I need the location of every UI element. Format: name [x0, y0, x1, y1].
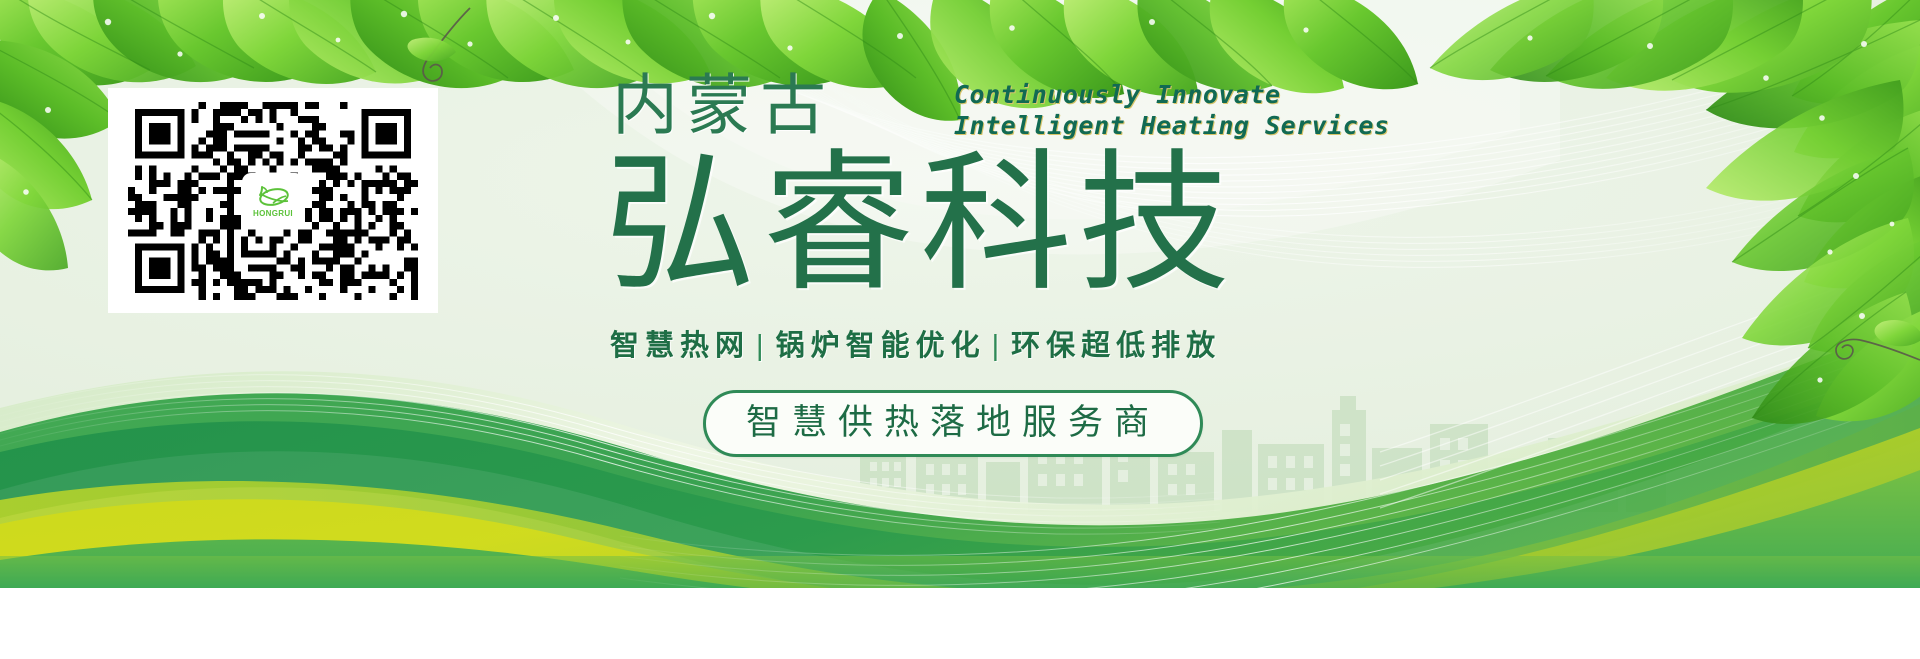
tagline-separator-2: | [986, 330, 1012, 362]
tagline-row: 智慧热网|锅炉智能优化|环保超低排放 [610, 322, 1221, 364]
service-badge: 智慧供热落地服务商 [703, 390, 1203, 457]
hongrui-logo: HONGRUI [244, 175, 302, 227]
vine-tendril-icon [423, 8, 470, 81]
qr-code-card[interactable]: HONGRUI [108, 88, 438, 313]
bottom-white-strip [0, 588, 1920, 659]
province-label: 内蒙古 [612, 72, 834, 138]
tagline-separator-1: | [750, 330, 776, 362]
english-slogan-line1: Continuously Innovate [954, 80, 1281, 109]
leaf-icon [255, 183, 291, 209]
tagline-item-1: 智慧热网 [610, 330, 750, 362]
english-slogan-line2: Intelligent Heating Services [954, 111, 1389, 140]
promo-banner: HONGRUI 内蒙古 Continuously Innovate Intell… [0, 0, 1920, 588]
headline-group: 内蒙古 Continuously Innovate Intelligent He… [598, 60, 1888, 480]
qr-code[interactable]: HONGRUI [128, 102, 418, 300]
english-slogan: Continuously Innovate Intelligent Heatin… [954, 80, 1389, 141]
brand-title: 弘睿科技 [604, 148, 1236, 300]
tagline-item-3: 环保超低排放 [1011, 330, 1221, 362]
hongrui-logo-label: HONGRUI [253, 210, 293, 218]
tagline-item-2: 锅炉智能优化 [776, 330, 986, 362]
